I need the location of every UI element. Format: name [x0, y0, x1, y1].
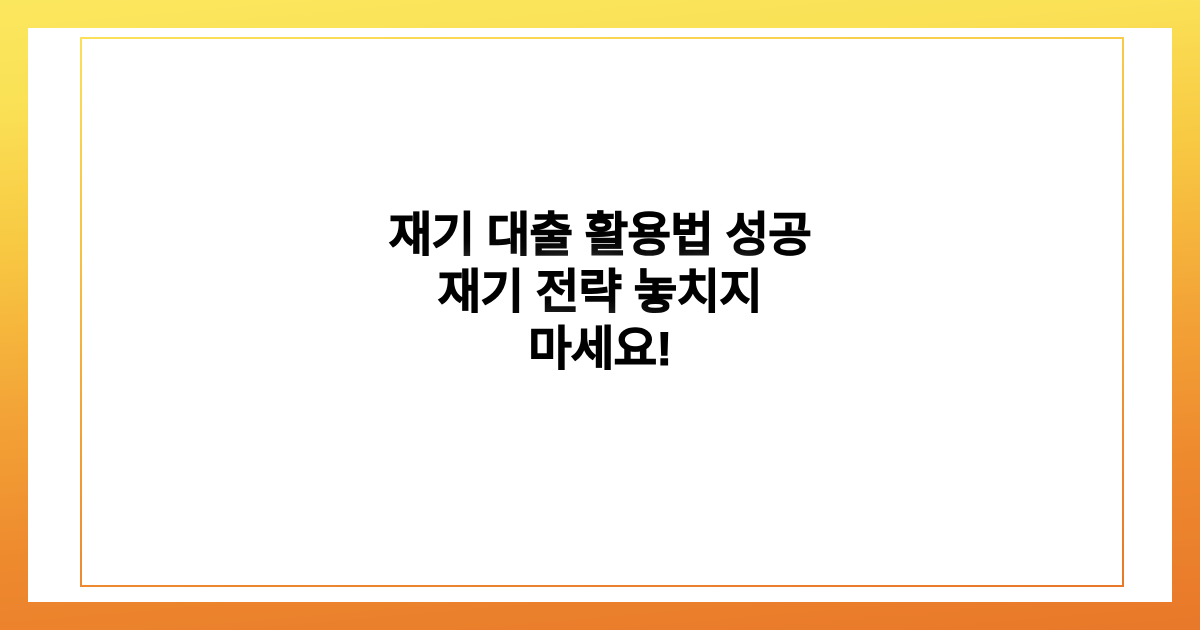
artwork-stripe-8 [87, 76, 173, 84]
console-drawer [364, 551, 928, 597]
soundbar [568, 396, 838, 414]
shelf-divider [548, 483, 774, 492]
artwork-stripe-10 [87, 98, 173, 106]
artwork-stripe-16 [87, 164, 173, 172]
shelf-small-box [594, 469, 608, 481]
media-console [358, 416, 934, 602]
floor-speaker [928, 456, 972, 602]
console-shadow [368, 598, 924, 602]
console-open-shelf [548, 425, 774, 541]
poster-canvas: GONE GIRL DIRECTOR · 98% · 17+ · 2 hr 29… [0, 0, 1200, 630]
tv-movie-meta: DIRECTOR · 98% · 17+ · 2 hr 29 min · Dra… [468, 196, 701, 202]
artwork-stripe-7 [87, 65, 173, 73]
shelf-lower-item [566, 503, 752, 531]
tv-foot-left [44, 414, 88, 420]
artwork-signature [101, 183, 145, 191]
tv-movie-title: GONE GIRL [430, 164, 870, 185]
drawer-handle [390, 557, 858, 562]
page-title-line-1: 재기 대출 활용법 성공 [150, 206, 1050, 263]
shelf-laptop [622, 463, 755, 481]
artwork-stripe-12 [87, 120, 173, 128]
artwork-stripe-17 [87, 175, 173, 183]
artwork-stripe-14 [87, 142, 173, 150]
artwork-stripe-4 [87, 32, 173, 40]
knitted-pouf [1114, 512, 1172, 602]
artwork-stripe-5 [87, 43, 173, 51]
artwork-stripe-3 [87, 28, 173, 29]
set-top-box [854, 394, 914, 414]
tv-stand-left [58, 394, 72, 416]
artwork-stripe-9 [87, 87, 173, 95]
tv-stand-right [416, 394, 430, 416]
page-title-line-2: 재기 전략 놓치지 [150, 263, 1050, 320]
artwork-stripe-15 [87, 153, 173, 161]
page-title: 재기 대출 활용법 성공 재기 전략 놓치지 마세요! [0, 206, 1200, 377]
shelf-box [562, 461, 584, 481]
artwork-stripes [87, 28, 173, 174]
artwork-stripe-13 [87, 131, 173, 139]
artwork-stripe-11 [87, 109, 173, 117]
artwork-stripe-6 [87, 54, 173, 62]
page-title-line-3: 마세요! [150, 320, 1050, 377]
shelf-items [558, 459, 764, 481]
plant-pot [124, 500, 242, 592]
